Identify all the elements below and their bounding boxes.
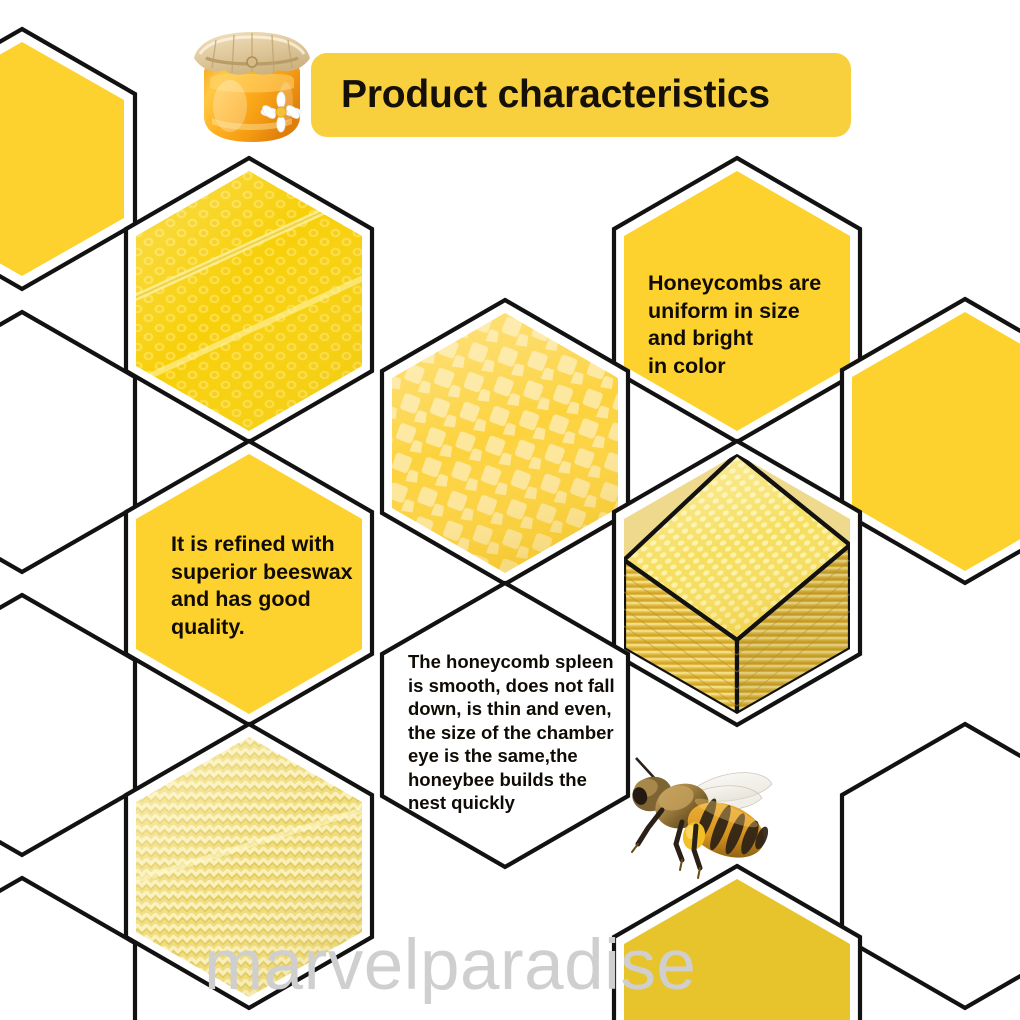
callout-refined-beeswax: It is refined with superior beeswax and … [171,531,395,641]
callout-honeycombs-uniform: Honeycombs are uniform in size and brigh… [648,270,863,380]
callout-honeycomb-spleen: The honeycomb spleen is smooth, does not… [408,650,628,815]
honeybee-photo [596,752,780,886]
honeycomb-grid [0,0,1020,1020]
honey-jar-icon [186,28,318,146]
infographic-canvas: Product characteristics Honeycombs are u… [0,0,1020,1020]
page-title: Product characteristics [341,62,841,128]
